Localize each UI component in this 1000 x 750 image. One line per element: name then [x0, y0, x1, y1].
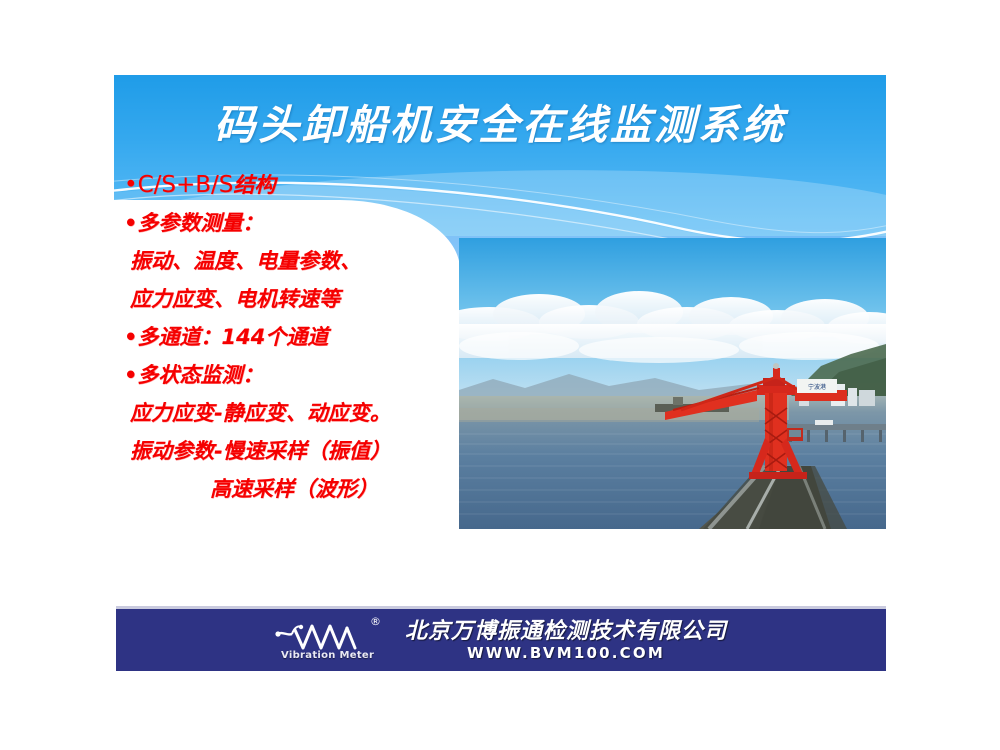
svg-text:宁波港: 宁波港 [808, 383, 826, 391]
footer-text-block: 北京万博振通检测技术有限公司 WWW.BVM100.COM [405, 619, 727, 662]
list-item: •多通道：144个通道 [124, 318, 464, 356]
page-title: 码头卸船机安全在线监测系统 [114, 100, 886, 150]
list-item: 振动参数-慢速采样（振值） [124, 432, 464, 470]
footer-bar: ® Vibration Meter 北京万博振通检测技术有限公司 WWW.BVM… [116, 609, 886, 671]
company-url[interactable]: WWW.BVM100.COM [467, 644, 665, 662]
registered-trademark-icon: ® [370, 616, 381, 627]
bullet-cjk-text: 结构 [233, 173, 275, 197]
vibration-meter-icon [275, 618, 371, 652]
list-item: •多参数测量： [124, 204, 464, 242]
list-item: •C/S+B/S结构 [124, 166, 464, 204]
crane-photo: 宁波港 [459, 238, 886, 529]
logo-subtitle: Vibration Meter [281, 650, 374, 661]
list-item: •多状态监测： [124, 356, 464, 394]
list-item: 应力应变-静应变、动应变。 [124, 394, 464, 432]
list-item: 振动、温度、电量参数、 [124, 242, 464, 280]
bullet-list: •C/S+B/S结构 •多参数测量： 振动、温度、电量参数、 应力应变、电机转速… [124, 166, 464, 508]
company-logo: ® Vibration Meter [275, 616, 393, 664]
crane-photo-illustration: 宁波港 [459, 238, 886, 529]
small-boat [815, 420, 833, 425]
presentation-slide: 码头卸船机安全在线监测系统 •C/S+B/S结构 •多参数测量： 振动、温度、电… [0, 0, 1000, 750]
bullet-latin-text: •C/S+B/S [124, 172, 233, 198]
company-name: 北京万博振通检测技术有限公司 [405, 619, 727, 644]
list-item: 应力应变、电机转速等 [124, 280, 464, 318]
list-item: 高速采样（波形） [124, 470, 464, 508]
